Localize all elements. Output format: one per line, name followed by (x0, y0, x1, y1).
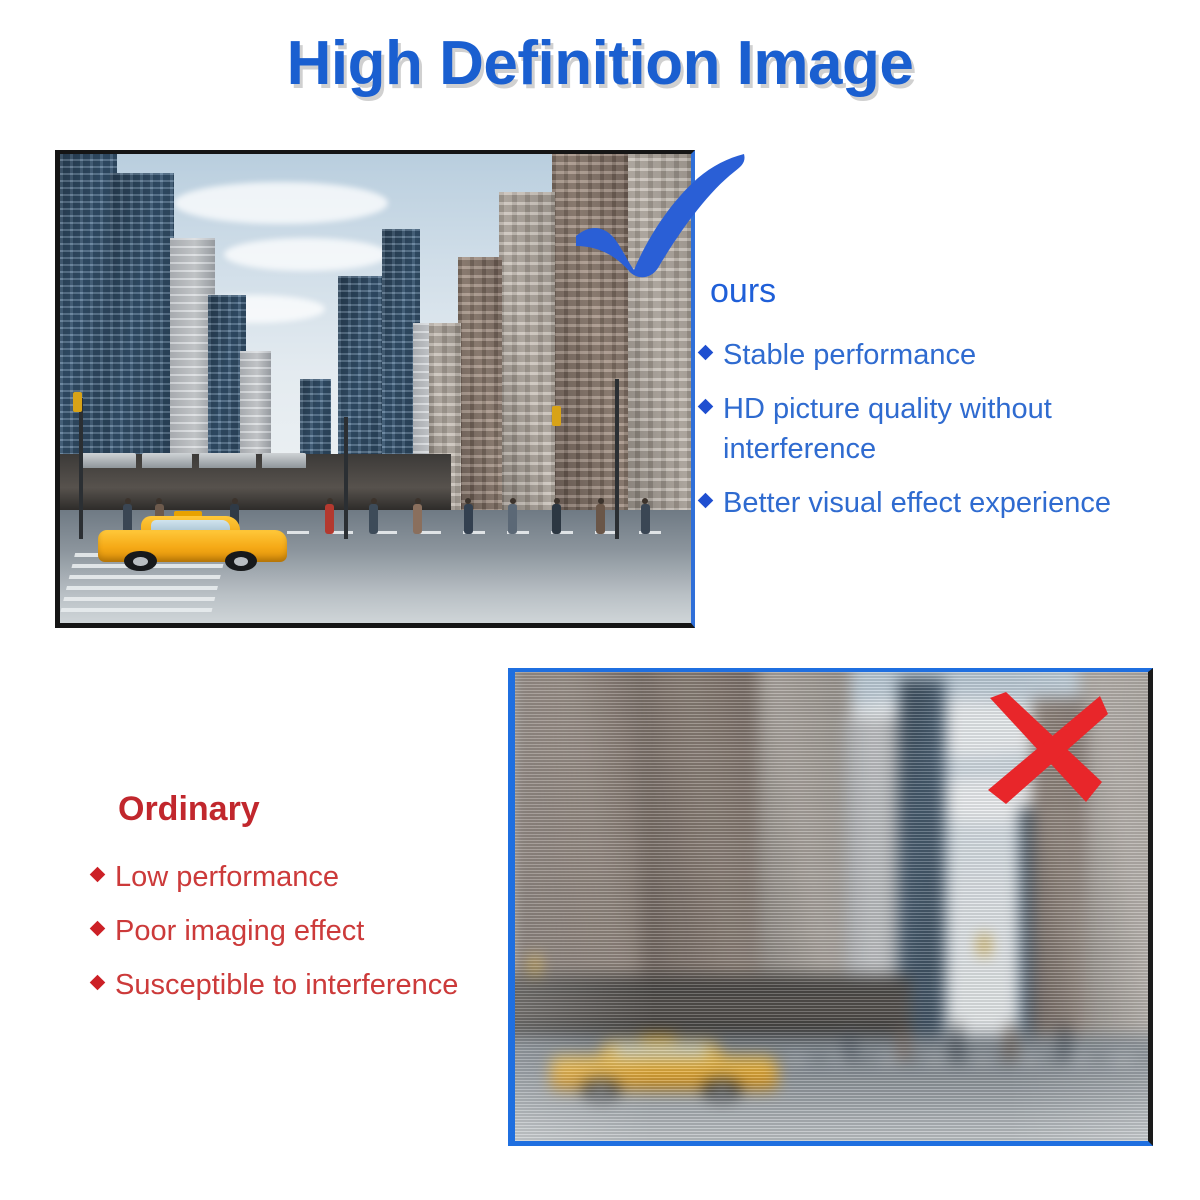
building (499, 192, 556, 520)
diamond-bullet-icon (698, 399, 714, 415)
pedestrian (845, 1029, 855, 1061)
list-item-label: Better visual effect experience (723, 483, 1111, 523)
comparison-graphic: High Definition Image (0, 0, 1200, 1200)
diamond-bullet-icon (90, 975, 106, 991)
ordinary-heading: Ordinary (118, 790, 522, 829)
lane-markings (738, 1057, 1153, 1060)
ours-heading: ours (710, 272, 1170, 311)
list-item: HD picture quality without interference (700, 389, 1170, 469)
street-pole (615, 379, 619, 538)
taxi-wheel (225, 551, 257, 571)
ordinary-text-block: Ordinary Low performance Poor imaging ef… (92, 790, 522, 1019)
diamond-bullet-icon (698, 493, 714, 509)
traffic-light (530, 955, 540, 976)
list-item: Low performance (92, 857, 522, 897)
list-item-label: Stable performance (723, 335, 976, 375)
pedestrian (325, 504, 334, 534)
taxi-wheel (582, 1079, 621, 1101)
ordinary-bullet-list: Low performance Poor imaging effect Susc… (92, 857, 522, 1005)
yellow-taxi (98, 518, 287, 572)
cloud (174, 182, 389, 224)
list-item: Poor imaging effect (92, 911, 522, 951)
pedestrian (413, 504, 422, 534)
building (458, 257, 502, 520)
check-mark-icon (570, 150, 750, 280)
diamond-bullet-icon (698, 345, 714, 361)
awning (199, 453, 256, 468)
street-pole (79, 398, 83, 539)
awning (79, 453, 136, 468)
pedestrian (1060, 1029, 1070, 1061)
cross-mark-icon (980, 690, 1110, 810)
traffic-light (73, 392, 82, 412)
list-item-label: HD picture quality without interference (723, 389, 1170, 469)
pedestrian (952, 1029, 962, 1061)
pedestrian (369, 504, 378, 534)
diamond-bullet-icon (90, 867, 106, 883)
list-item: Susceptible to interference (92, 965, 522, 1005)
list-item-label: Low performance (115, 857, 339, 897)
pedestrian (508, 504, 517, 534)
pedestrian (641, 504, 650, 534)
taxi-wheel (703, 1079, 742, 1101)
pedestrian (596, 504, 605, 534)
traffic-light (552, 406, 561, 426)
pedestrian (899, 1029, 909, 1061)
pedestrian (552, 504, 561, 534)
pedestrian (1006, 1029, 1016, 1061)
diamond-bullet-icon (90, 921, 106, 937)
list-item: Stable performance (700, 335, 1170, 375)
page-title: High Definition Image (0, 28, 1200, 99)
awning (142, 453, 192, 468)
yellow-taxi (550, 1043, 778, 1100)
ours-bullet-list: Stable performance HD picture quality wi… (700, 335, 1170, 523)
awning (262, 453, 306, 468)
pedestrian (464, 504, 473, 534)
street-pole (344, 417, 348, 539)
taxi-wheel (124, 551, 156, 571)
list-item-label: Poor imaging effect (115, 911, 364, 951)
list-item-label: Susceptible to interference (115, 965, 458, 1005)
ours-text-block: ours Stable performance HD picture quali… (700, 272, 1170, 537)
list-item: Better visual effect experience (700, 483, 1170, 523)
traffic-light (979, 935, 989, 956)
